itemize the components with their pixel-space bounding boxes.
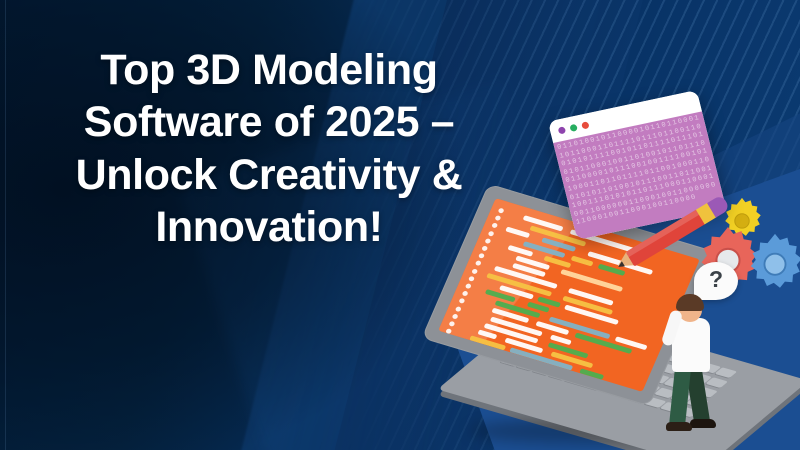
gear-blue-icon: [744, 232, 800, 294]
screen-gutter-dot: [462, 291, 469, 297]
headline-line-4: Innovation!: [34, 201, 504, 253]
person-back-shoe: [690, 419, 716, 428]
person-carrying-pencil: [660, 276, 734, 436]
screen-gutter-dot: [468, 276, 475, 282]
window-dot-green-icon[interactable]: [569, 123, 578, 131]
window-dot-red-icon[interactable]: [581, 121, 590, 129]
headline-line-2: Software of 2025 –: [34, 96, 504, 148]
person-front-leg: [669, 367, 691, 426]
screen-gutter-dot: [442, 336, 449, 342]
headline-line-1: Top 3D Modeling: [34, 44, 504, 96]
screen-gutter-dot: [471, 268, 478, 274]
page-title: Top 3D Modeling Software of 2025 – Unloc…: [34, 44, 504, 254]
person-front-shoe: [666, 422, 692, 431]
screen-gutter-dot: [455, 306, 462, 312]
screen-gutter-dot: [458, 298, 465, 304]
banner: Top 3D Modeling Software of 2025 – Unloc…: [0, 0, 800, 450]
screen-code-line: [505, 227, 530, 239]
screen-code-line: [579, 369, 604, 381]
screen-gutter-dot: [465, 283, 472, 289]
screen-gutter-dot: [475, 260, 482, 266]
person-hair: [676, 294, 704, 311]
screen-code-line: [469, 336, 506, 351]
window-dot-purple-icon[interactable]: [558, 126, 567, 134]
screen-gutter-dot: [448, 321, 455, 327]
screen-gutter-dot: [445, 328, 452, 334]
screen-gutter-dot: [452, 313, 459, 319]
headline-line-3: Unlock Creativity &: [34, 149, 504, 201]
